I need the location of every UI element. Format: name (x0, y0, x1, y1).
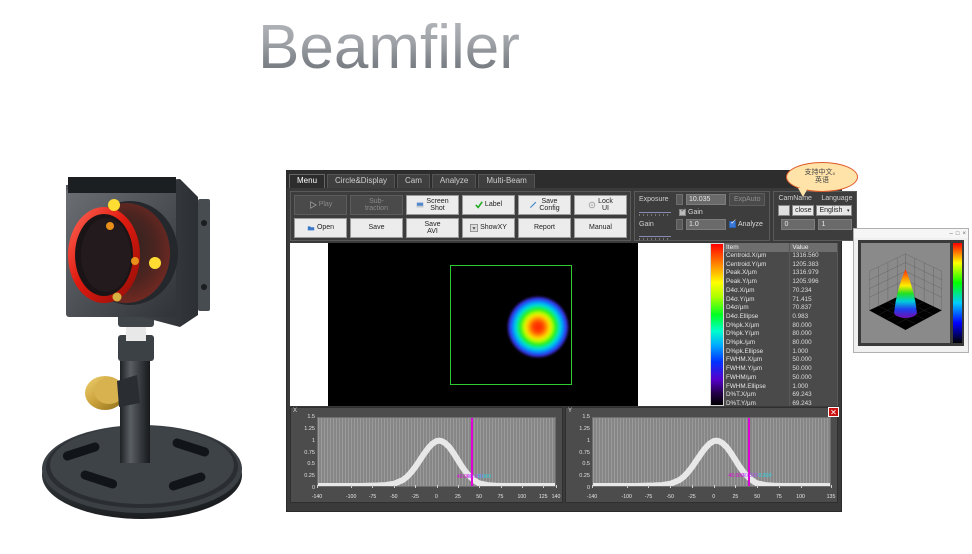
main-display-area: ItemValue Centroid.X/µm1316.560Centroid.… (287, 243, 841, 406)
y-tick-label: 0.25 (293, 473, 315, 479)
analyze-checkbox-box (729, 221, 736, 228)
table-row[interactable]: Peak.Y/µm1205.996 (724, 278, 838, 287)
x-tick-label: 140 (552, 494, 561, 500)
page-title: Beamfiler (258, 12, 520, 83)
screen-shot-button[interactable]: ScreenShot (406, 195, 459, 215)
table-row[interactable]: D%pk.Y/µm80.000 (724, 330, 838, 339)
manual-button[interactable]: Manual (574, 218, 627, 238)
button-label: ShowXY (480, 224, 507, 231)
camera-slider-row: 0 1 (778, 219, 852, 230)
x-tick-label: 135 (827, 494, 836, 500)
button-label: Report (534, 224, 555, 231)
table-cell-item: FWHM.X/µm (724, 356, 790, 365)
table-row[interactable]: D%T.X/µm69.243 (724, 391, 838, 400)
toolbar-row-1: PlaySub-tractionScreenShotLabelSaveConfi… (294, 195, 627, 215)
camname-header: CamName Language (778, 195, 852, 202)
callout-line-1: 支持中文。 (805, 169, 840, 177)
report-button[interactable]: Report (518, 218, 571, 238)
table-cell-value: 1316.979 (790, 269, 838, 278)
table-row[interactable]: FWHM.X/µm50.000 (724, 356, 838, 365)
three-d-window-titlebar: – □ × (854, 229, 968, 238)
save-button[interactable]: Save (350, 218, 403, 238)
table-cell-item: FWHM.Y/µm (724, 365, 790, 374)
screenshot-icon (416, 201, 424, 209)
y-tick-label: 0.5 (293, 461, 315, 467)
close-camera-button[interactable]: close (792, 205, 814, 216)
x-tick-label: 75 (776, 494, 782, 500)
table-row[interactable]: D%pk./µm80.000 (724, 339, 838, 348)
camera-extra-value[interactable]: 1 (818, 219, 852, 230)
series-line (593, 441, 830, 486)
y-tick-label: 1.25 (568, 426, 590, 432)
table-header-value: Value (790, 243, 838, 252)
label-button[interactable]: Label (462, 195, 515, 215)
gain-label: Gain (639, 221, 673, 228)
table-cell-item: D4σ.X/µm (724, 287, 790, 296)
table-cell-value: 0.983 (790, 313, 838, 322)
save-config-button[interactable]: SaveConfig (518, 195, 571, 215)
x-tick-mark (627, 485, 628, 488)
tab-circle-display[interactable]: Circle&Display (327, 174, 395, 188)
x-tick-mark (556, 485, 557, 488)
x-tick-mark (757, 485, 758, 488)
measurement-table-panel[interactable]: ItemValue Centroid.X/µm1316.560Centroid.… (724, 243, 838, 406)
toolbar-button-group: PlaySub-tractionScreenShotLabelSaveConfi… (290, 191, 631, 241)
language-select[interactable]: English ▾ (816, 205, 852, 216)
x-tick-mark (801, 485, 802, 488)
table-cell-item: D4σ.Ellipse (724, 313, 790, 322)
three-d-surface-plot[interactable] (861, 243, 950, 343)
y-tick-label: 0 (568, 485, 590, 491)
three-d-view-window[interactable]: – □ × (853, 228, 969, 353)
x-tick-label: 50 (476, 494, 482, 500)
x-tick-mark (670, 485, 671, 488)
minimize-icon[interactable]: – (950, 231, 953, 237)
play-button[interactable]: Play (294, 195, 347, 215)
analyze-checkbox-label: Analyze (738, 221, 763, 228)
chart-svg (593, 418, 830, 486)
x-tick-mark (592, 485, 593, 488)
chevron-down-icon (470, 224, 478, 232)
table-cell-value: 50.000 (790, 356, 838, 365)
language-support-callout: 支持中文。 英语 (786, 162, 858, 196)
plot-area[interactable]: 40.00040.0000.000 (317, 417, 556, 487)
table-cell-value: 80.000 (790, 322, 838, 331)
camera-name-group: CamName Language close English ▾ 0 1 (773, 191, 857, 241)
table-cell-value: 70.234 (790, 287, 838, 296)
gain-slider[interactable] (639, 233, 671, 240)
tab-menu[interactable]: Menu (289, 174, 325, 188)
y-tick-label: 0.25 (568, 473, 590, 479)
table-cell-item: D%pk.Y/µm (724, 330, 790, 339)
table-row[interactable]: FWHM/µm50.000 (724, 374, 838, 383)
chart-y-profile[interactable]: Y40.00040.0000.0001.51.2510.750.50.250-1… (565, 407, 838, 503)
x-tick-label: 100 (796, 494, 805, 500)
button-label: Manual (589, 224, 612, 231)
x-tick-label: -25 (688, 494, 696, 500)
close-icon[interactable]: ✕ (828, 407, 839, 417)
beam-profiler-application-window: MenuCircle&DisplayCamAnalyzeMulti-Beam P… (286, 170, 842, 512)
callout-tail (798, 188, 808, 197)
table-cell-item: D4σ.Y/µm (724, 296, 790, 305)
exposure-spinner[interactable] (676, 194, 683, 205)
table-row[interactable]: D4σ.Ellipse0.983 (724, 313, 838, 322)
y-tick-label: 0 (293, 485, 315, 491)
table-row[interactable]: D4σ.Y/µm71.415 (724, 296, 838, 305)
exposure-slider[interactable] (639, 209, 671, 216)
three-d-window-body (858, 240, 964, 346)
beam-camera-frame (328, 243, 638, 406)
x-tick-mark (522, 485, 523, 488)
x-tick-mark (648, 485, 649, 488)
table-cell-item: Centroid.X/µm (724, 252, 790, 261)
table-row[interactable]: Centroid.Y/µm1205.383 (724, 261, 838, 270)
y-tick-label: 0.5 (568, 461, 590, 467)
x-tick-label: 25 (733, 494, 739, 500)
gain-checkbox-box (679, 209, 686, 216)
toolbar-row-2: OpenSaveSaveAVIShowXYReportManual (294, 218, 627, 238)
x-tick-mark (543, 485, 544, 488)
table-row[interactable]: D4σ.X/µm70.234 (724, 287, 838, 296)
camname-input-row: close English ▾ (778, 205, 852, 216)
table-cell-item: D%T.X/µm (724, 391, 790, 400)
x-tick-label: -25 (411, 494, 419, 500)
x-tick-mark (351, 485, 352, 488)
table-cell-item: D%pk.Ellipse (724, 348, 790, 357)
table-row[interactable]: D%pk.X/µm80.000 (724, 322, 838, 331)
table-cell-item: D4σ/µm (724, 304, 790, 313)
gain-slider-row (639, 233, 765, 240)
y-tick-label: 1.5 (293, 414, 315, 420)
y-tick-label: 1 (293, 438, 315, 444)
check-icon (475, 201, 483, 209)
table-row[interactable]: D4σ/µm70.837 (724, 304, 838, 313)
beam-spot (508, 297, 568, 357)
chevron-down-icon: ▾ (847, 208, 850, 214)
beam-profiler-product-photo (22, 175, 262, 530)
table-cell-value: 50.000 (790, 374, 838, 383)
table-cell-item: Peak.X/µm (724, 269, 790, 278)
chart-x-profile[interactable]: X40.00040.0000.0001.51.2510.750.50.250-1… (290, 407, 563, 503)
showxy-button[interactable]: ShowXY (462, 218, 515, 238)
pencil-icon (529, 201, 537, 209)
x-tick-label: -75 (645, 494, 653, 500)
x-tick-label: -100 (346, 494, 356, 500)
play-icon (309, 201, 317, 209)
x-tick-mark (479, 485, 480, 488)
button-label: SaveAVI (425, 221, 441, 236)
close-icon[interactable]: × (962, 231, 966, 237)
chart-annotation: 0.000 (758, 473, 771, 479)
button-label: Play (319, 201, 333, 208)
analyze-checkbox[interactable]: Analyze (729, 221, 763, 228)
language-value: English (819, 207, 842, 214)
x-tick-label: -140 (587, 494, 597, 500)
tab-analyze[interactable]: Analyze (432, 174, 476, 188)
x-tick-mark (779, 485, 780, 488)
table-cell-value: 70.837 (790, 304, 838, 313)
lock-ui-button[interactable]: LockUI (574, 195, 627, 215)
table-row[interactable]: FWHM.Y/µm50.000 (724, 365, 838, 374)
expauto-button[interactable]: ExpAuto (729, 193, 765, 206)
table-cell-item: Centroid.Y/µm (724, 261, 790, 270)
tab-bar: MenuCircle&DisplayCamAnalyzeMulti-Beam (287, 171, 841, 188)
table-header-item: Item (724, 243, 790, 252)
table-cell-value: 71.415 (790, 296, 838, 305)
table-cell-item: D%pk.X/µm (724, 322, 790, 331)
x-tick-label: -140 (312, 494, 322, 500)
camname-input[interactable] (778, 205, 790, 216)
gain-checkbox-label: Gain (688, 209, 703, 216)
table-cell-value: 80.000 (790, 330, 838, 339)
three-d-colorbar (953, 243, 962, 343)
save-avi-button[interactable]: SaveAVI (406, 218, 459, 238)
table-cell-value: 1.000 (790, 348, 838, 357)
measurement-table: ItemValue Centroid.X/µm1316.560Centroid.… (724, 243, 838, 406)
x-tick-mark (317, 485, 318, 488)
button-label: LockUI (598, 198, 613, 213)
language-label: Language (821, 195, 852, 202)
x-tick-mark (437, 485, 438, 488)
gain-value[interactable]: 1.0 (686, 219, 726, 230)
table-header-row: ItemValue (724, 243, 838, 252)
callout-bubble: 支持中文。 英语 (786, 162, 858, 192)
x-tick-label: 125 (539, 494, 548, 500)
table-cell-value: 1205.996 (790, 278, 838, 287)
table-row[interactable]: Peak.X/µm1316.979 (724, 269, 838, 278)
button-label: Save (369, 224, 385, 231)
button-label: Sub-traction (365, 198, 388, 213)
x-tick-label: 25 (455, 494, 461, 500)
table-cell-value: 69.243 (790, 391, 838, 400)
table-cell-value: 1.000 (790, 383, 838, 392)
table-cell-value: 50.000 (790, 365, 838, 374)
x-tick-mark (692, 485, 693, 488)
button-label: ScreenShot (426, 198, 448, 213)
x-tick-mark (372, 485, 373, 488)
table-row[interactable]: Centroid.X/µm1316.560 (724, 252, 838, 261)
table-cell-value: 80.000 (790, 339, 838, 348)
gain-checkbox[interactable]: Gain (679, 209, 703, 216)
x-tick-label: 75 (498, 494, 504, 500)
gain-row: Gain 1.0 Analyze (639, 219, 765, 230)
series-line (318, 441, 555, 486)
table-row[interactable]: FWHM.Ellipse1.000 (724, 383, 838, 392)
x-tick-label: 50 (754, 494, 760, 500)
chart-svg (318, 418, 555, 486)
x-tick-mark (501, 485, 502, 488)
table-cell-item: D%pk./µm (724, 339, 790, 348)
exposure-label: Exposure (639, 196, 673, 203)
sub-traction-button[interactable]: Sub-traction (350, 195, 403, 215)
x-tick-label: 100 (518, 494, 527, 500)
lock-icon (588, 201, 596, 209)
table-row[interactable]: D%pk.Ellipse1.000 (724, 348, 838, 357)
gain-spinner[interactable] (676, 219, 683, 230)
x-tick-label: -100 (622, 494, 632, 500)
button-label: Label (485, 201, 502, 208)
x-tick-mark (714, 485, 715, 488)
folder-icon (307, 224, 315, 232)
y-tick-label: 0.75 (568, 450, 590, 456)
x-tick-mark (735, 485, 736, 488)
tab-multi-beam[interactable]: Multi-Beam (478, 174, 534, 188)
toolbar: PlaySub-tractionScreenShotLabelSaveConfi… (287, 188, 841, 243)
table-cell-value: 1205.383 (790, 261, 838, 270)
profile-charts: X40.00040.0000.0001.51.2510.750.50.250-1… (287, 406, 841, 506)
y-tick-label: 1.25 (293, 426, 315, 432)
beam-image-view[interactable] (290, 243, 710, 406)
y-tick-label: 1.5 (568, 414, 590, 420)
x-tick-mark (394, 485, 395, 488)
x-tick-label: -75 (369, 494, 377, 500)
x-tick-label: 0 (712, 494, 715, 500)
callout-line-2: 英语 (815, 177, 829, 185)
table-cell-item: FWHM/µm (724, 374, 790, 383)
plot-area[interactable]: 40.00040.0000.000 (592, 417, 831, 487)
intensity-colorbar (710, 243, 724, 406)
y-tick-label: 1 (568, 438, 590, 444)
x-tick-label: 0 (435, 494, 438, 500)
tab-cam[interactable]: Cam (397, 174, 430, 188)
chart-annotation: 40.000 (742, 473, 758, 479)
chart-annotation: 0.000 (478, 474, 491, 480)
button-label: Open (317, 224, 334, 231)
table-cell-item: FWHM.Ellipse (724, 383, 790, 392)
table-cell-item: Peak.Y/µm (724, 278, 790, 287)
open-button[interactable]: Open (294, 218, 347, 238)
x-tick-label: -50 (666, 494, 674, 500)
colorbar-gradient (711, 244, 723, 405)
maximize-icon[interactable]: □ (956, 231, 960, 237)
exposure-slider-row: Gain (639, 209, 765, 216)
exposure-row: Exposure 10.035 ExpAuto (639, 193, 765, 206)
x-tick-mark (458, 485, 459, 488)
camera-slider-value[interactable]: 0 (781, 219, 815, 230)
x-tick-mark (415, 485, 416, 488)
button-label: SaveConfig (539, 198, 559, 213)
x-tick-label: -50 (390, 494, 398, 500)
x-tick-mark (831, 485, 832, 488)
camera-parameter-group: Exposure 10.035 ExpAuto Gain Gain 1.0 (634, 191, 770, 241)
table-cell-value: 1316.560 (790, 252, 838, 261)
y-tick-label: 0.75 (293, 450, 315, 456)
exposure-value[interactable]: 10.035 (686, 194, 726, 205)
